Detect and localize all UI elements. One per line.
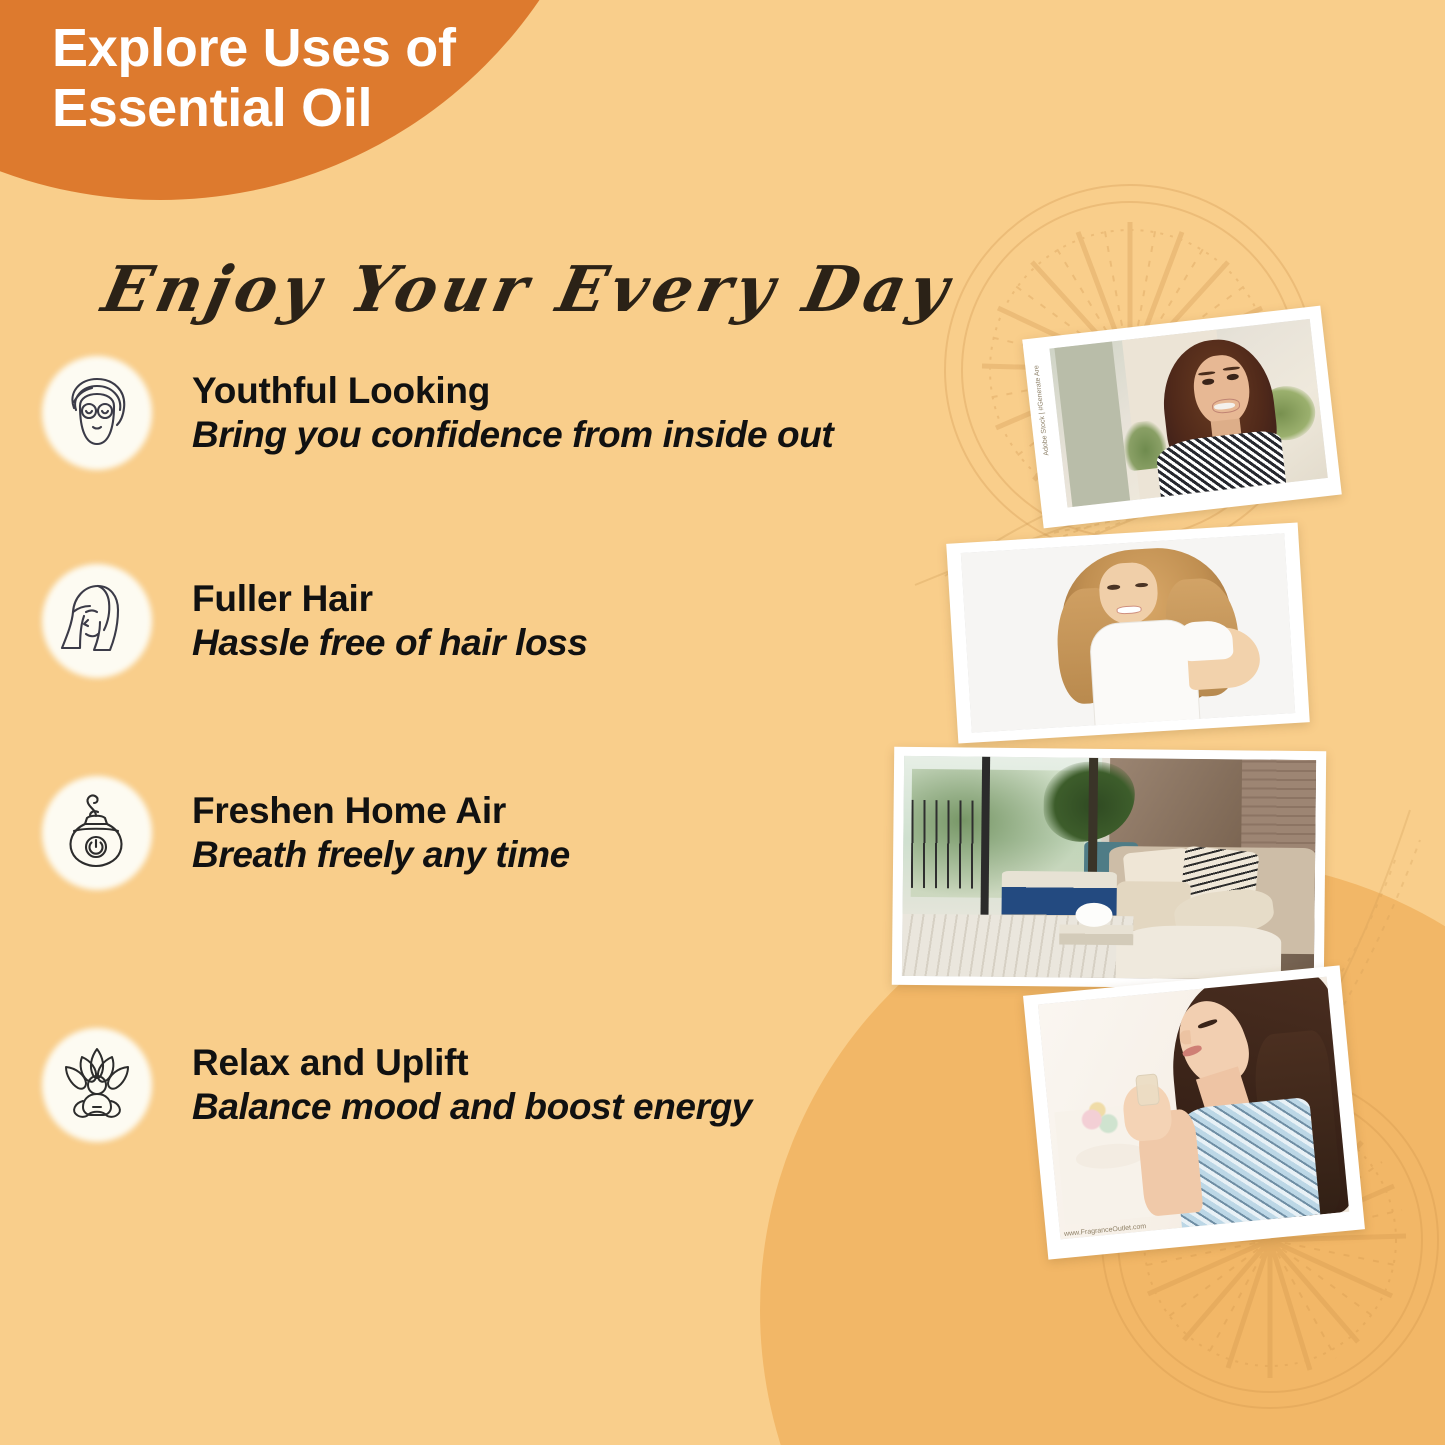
feature-title: Freshen Home Air [192,792,570,830]
photo-smiling-woman: Adobe Stock | #Generate Are [1022,306,1342,529]
feature-text: Youthful Looking Bring you confidence fr… [192,372,833,454]
feature-subtitle: Breath freely any time [192,836,570,874]
feature-title: Fuller Hair [192,580,588,618]
long-hair-profile-icon [36,560,158,682]
poster-canvas: Explore Uses of Essential Oil Enjoy Your… [0,0,1445,1445]
face-mask-icon [36,352,158,474]
feature-subtitle: Balance mood and boost energy [192,1088,752,1126]
feature-text: Freshen Home Air Breath freely any time [192,792,570,874]
feature-text: Relax and Uplift Balance mood and boost … [192,1044,752,1126]
script-heading: Enjoy Your Every Day [96,252,872,326]
photo-woman-applying-perfume: www.FragranceOutlet.com [1023,965,1365,1259]
feature-title: Relax and Uplift [192,1044,752,1082]
lotus-meditation-icon [36,1024,158,1146]
page-title: Explore Uses of Essential Oil [52,18,612,139]
photo-wavy-blonde-hair [946,522,1310,743]
feature-item-youthful-looking: Youthful Looking Bring you confidence fr… [36,352,833,474]
photo-watermark: Adobe Stock | #Generate Are [1033,365,1050,456]
feature-text: Fuller Hair Hassle free of hair loss [192,580,588,662]
feature-subtitle: Bring you confidence from inside out [192,416,833,454]
feature-subtitle: Hassle free of hair loss [192,624,588,662]
aroma-diffuser-icon [36,772,158,894]
feature-item-freshen-home-air: Freshen Home Air Breath freely any time [36,772,570,894]
feature-item-fuller-hair: Fuller Hair Hassle free of hair loss [36,560,588,682]
feature-item-relax-and-uplift: Relax and Uplift Balance mood and boost … [36,1024,752,1146]
photo-cozy-living-room [892,747,1326,990]
feature-title: Youthful Looking [192,372,833,410]
